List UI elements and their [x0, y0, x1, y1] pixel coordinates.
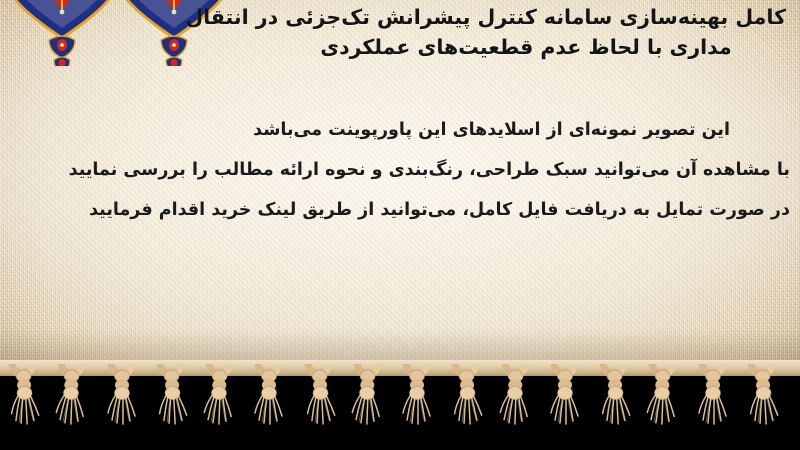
medallion-icon	[6, 0, 118, 66]
fringe-tassel	[203, 364, 237, 442]
fringe-tassel	[646, 364, 680, 442]
fringe-tassel	[55, 364, 89, 442]
fringe-tassel	[252, 364, 286, 442]
fringe-tassel	[351, 364, 385, 442]
body-line-1: این تصویر نمونه‌ای از اسلایدهای این پاور…	[6, 110, 790, 150]
carpet-fringe	[0, 360, 800, 450]
title-line-2: مداری با لحاظ عدم قطعیت‌های عملکردی	[226, 32, 786, 62]
slide-body: این تصویر نمونه‌ای از اسلایدهای این پاور…	[6, 110, 790, 230]
fringe-tassel	[154, 364, 188, 442]
fringe-tassel	[105, 364, 139, 442]
fringe-tassel	[499, 364, 533, 442]
fringe-tassel	[548, 364, 582, 442]
fringe-tassel	[696, 364, 730, 442]
title-line-1: کامل بهینه‌سازی سامانه کنترل پیشرانش تک‌…	[226, 2, 786, 32]
persian-medallion-ornament-left	[6, 0, 118, 66]
body-line-2: با مشاهده آن می‌توانید سبک طراحی، رنگ‌بن…	[6, 150, 790, 190]
fringe-tassel	[745, 364, 779, 442]
fringe-tassel	[449, 364, 483, 442]
fringe-tassel	[400, 364, 434, 442]
fringe-tassel	[597, 364, 631, 442]
body-line-3: در صورت تمایل به دریافت فایل کامل، می‌تو…	[6, 190, 790, 230]
fringe-tassel	[302, 364, 336, 442]
slide-title: کامل بهینه‌سازی سامانه کنترل پیشرانش تک‌…	[226, 2, 786, 62]
slide-canvas: کامل بهینه‌سازی سامانه کنترل پیشرانش تک‌…	[0, 0, 800, 450]
fringe-tassel	[6, 364, 40, 442]
